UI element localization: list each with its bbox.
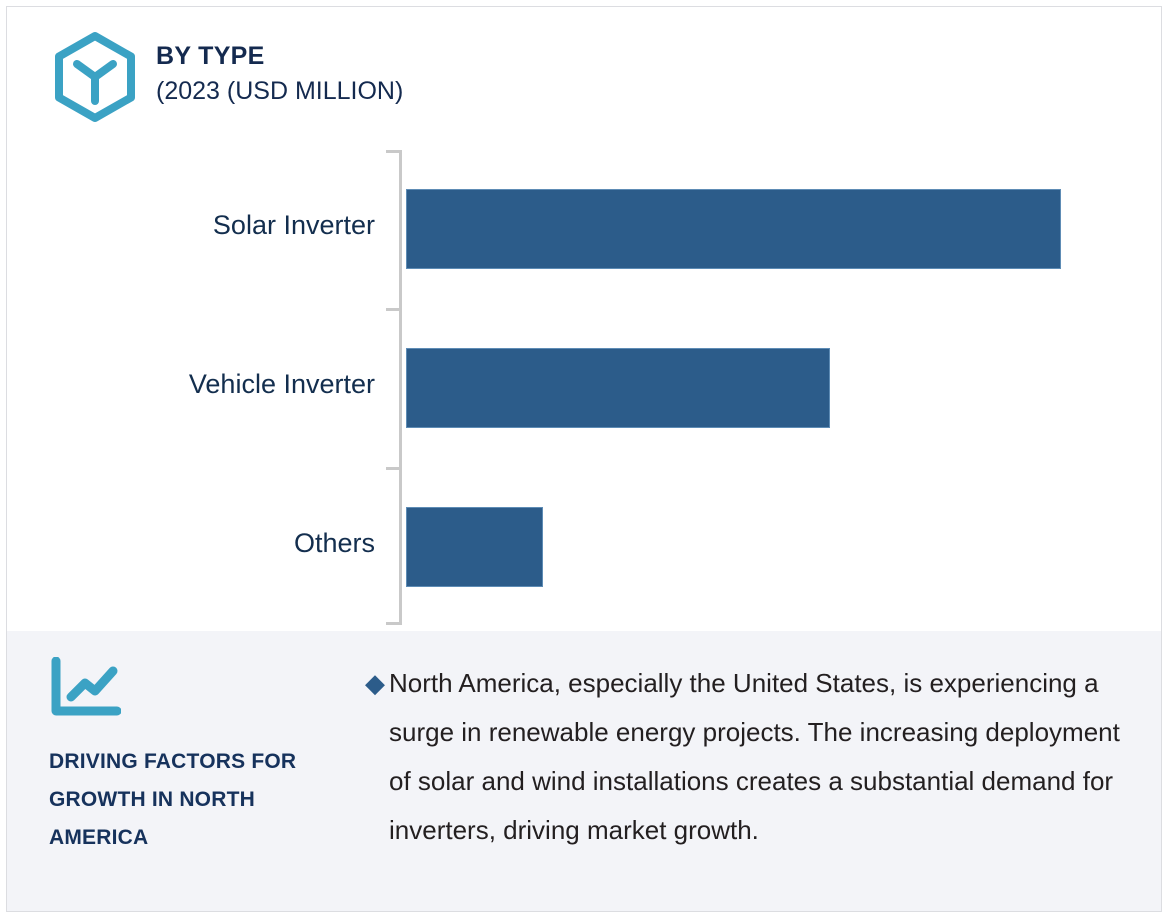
- page-title: BY TYPE: [156, 39, 756, 73]
- card-header: BY TYPE (2023 (USD MILLION): [7, 7, 1161, 137]
- driving-factors-heading: DRIVING FACTORS FOR GROWTH IN NORTH AMER…: [49, 743, 349, 857]
- hexagon-y-icon: [49, 31, 141, 123]
- page-subtitle: (2023 (USD MILLION): [156, 73, 756, 109]
- axis-tick: [386, 622, 400, 625]
- bar-vehicle-inverter: [406, 348, 830, 428]
- bar-chart: Solar Inverter Vehicle Inverter Others: [7, 137, 1161, 631]
- bar-label-solar-inverter: Solar Inverter: [7, 210, 375, 241]
- chart-card: BY TYPE (2023 (USD MILLION) Solar Invert…: [6, 6, 1162, 912]
- bar-others: [406, 507, 543, 587]
- driving-factors-panel: DRIVING FACTORS FOR GROWTH IN NORTH AMER…: [7, 631, 1162, 912]
- diamond-bullet-icon: ◆: [365, 659, 385, 708]
- bar-solar-inverter: [406, 189, 1061, 269]
- y-axis-line: [399, 150, 402, 625]
- axis-tick: [386, 308, 400, 311]
- axis-tick: [386, 467, 400, 470]
- axis-tick: [386, 150, 400, 153]
- line-chart-icon: [49, 657, 121, 719]
- driving-factors-left: DRIVING FACTORS FOR GROWTH IN NORTH AMER…: [49, 657, 349, 857]
- driving-factors-text: North America, especially the United Sta…: [389, 659, 1135, 855]
- driving-factors-body: ◆ North America, especially the United S…: [365, 659, 1135, 855]
- bar-label-vehicle-inverter: Vehicle Inverter: [7, 369, 375, 400]
- bar-label-others: Others: [7, 528, 375, 559]
- header-text-block: BY TYPE (2023 (USD MILLION): [156, 39, 756, 109]
